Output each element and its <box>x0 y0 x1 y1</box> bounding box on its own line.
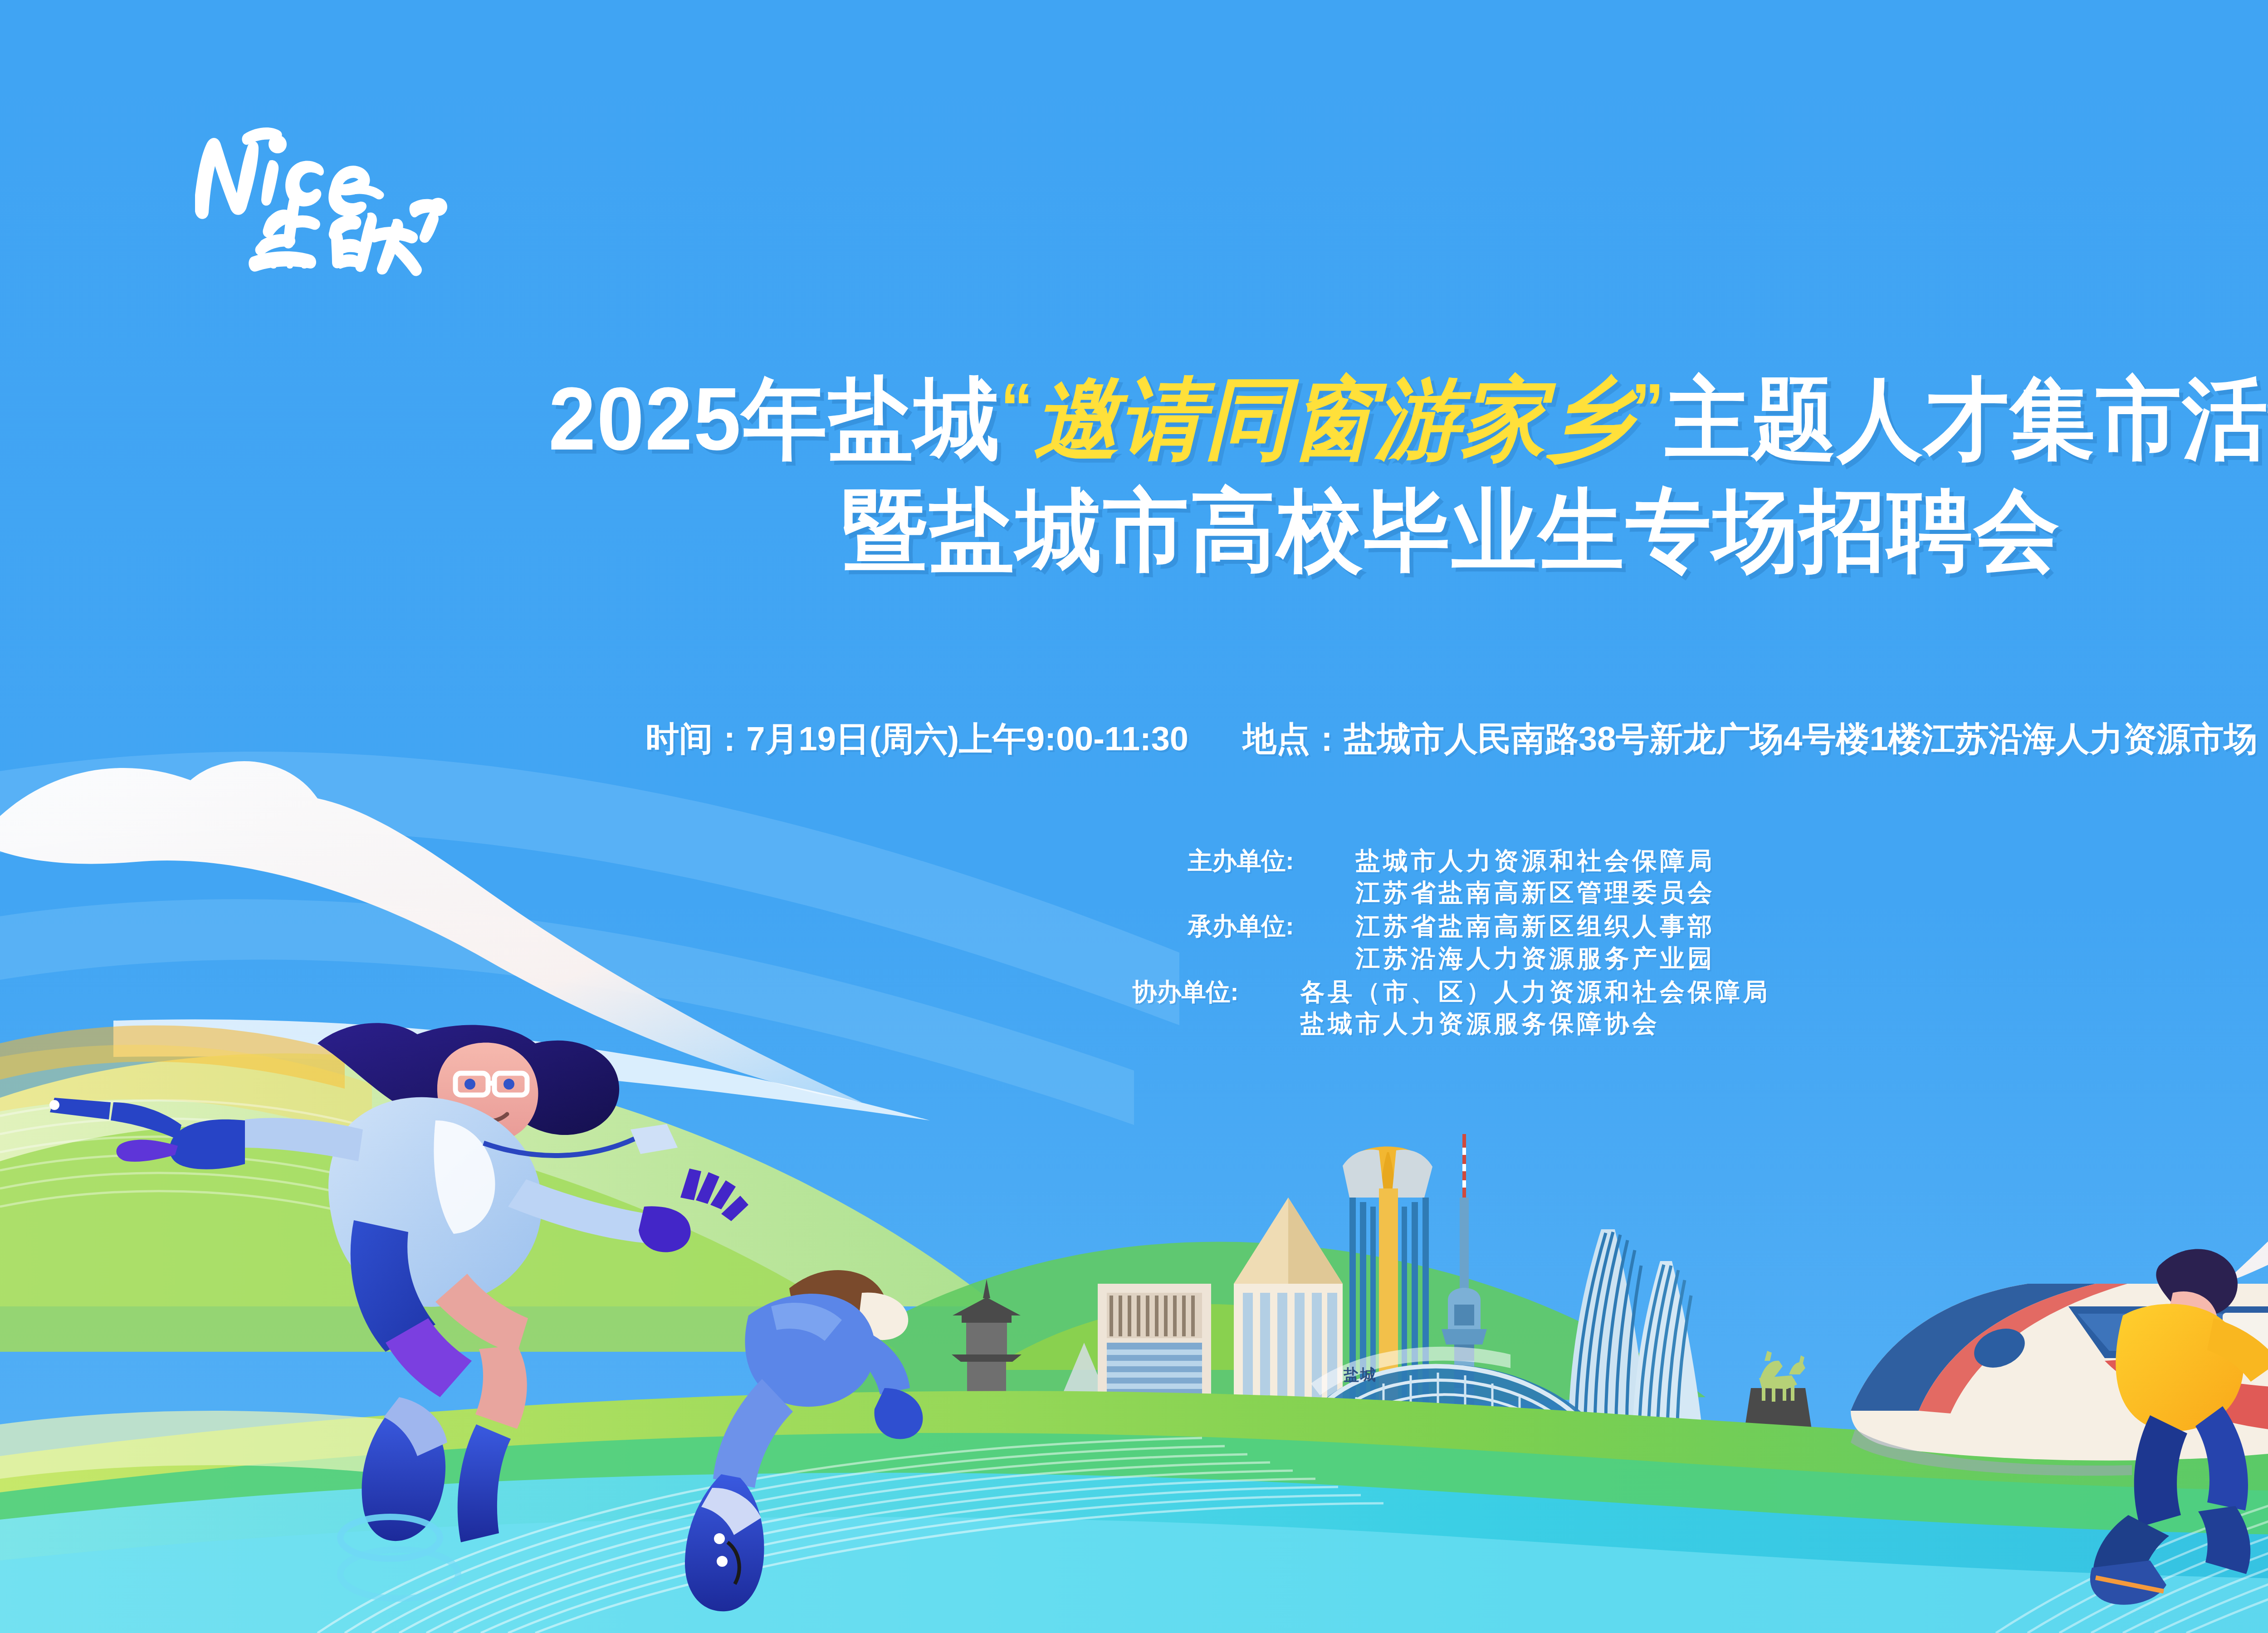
organizer-label: 协办单位: <box>1133 976 1300 1007</box>
time-value: 7月19日(周六)上午9:00-11:30 <box>746 720 1188 758</box>
organizer-value: 盐城市人力资源和社会保障局 <box>1356 845 1716 876</box>
time-label: 时间： <box>645 720 746 758</box>
organizer-block: 协办单位: 各县（市、区）人力资源和社会保障局 盐城市人力资源服务保障协会 <box>1133 976 1771 1039</box>
title-part-2: 主题人才集市活动 <box>1665 369 2268 469</box>
organizer-block: 承办单位: 江苏省盐南高新区组织人事部 江苏沿海人力资源服务产业园 <box>1188 910 1716 973</box>
quote-close: ” <box>1631 369 1665 445</box>
poster-title: 2025年盐城“邀请同窗游家乡”主题人才集市活动 暨盐城市高校毕业生专场招聘会 <box>0 372 2268 577</box>
organizer-label: 主办单位: <box>1188 845 1356 876</box>
organizer-value: 江苏省盐南高新区组织人事部 <box>1356 910 1716 942</box>
place-label: 地点： <box>1243 720 1344 758</box>
illustration-characters <box>0 0 2268 1633</box>
organizer-value: 盐城市人力资源服务保障协会 <box>1300 1007 1771 1039</box>
quote-open: “ <box>1000 369 1034 445</box>
place-value: 盐城市人民南路38号新龙广场4号楼1楼江苏沿海人力资源市场 <box>1344 720 2258 758</box>
organizer-block: 主办单位: 盐城市人力资源和社会保障局 江苏省盐南高新区管理委员会 <box>1188 845 1716 908</box>
organizer-value: 江苏沿海人力资源服务产业园 <box>1356 942 1716 974</box>
title-part-1: 2025年盐城 <box>548 369 1001 469</box>
organizer-value: 江苏省盐南高新区管理委员会 <box>1356 876 1716 908</box>
organizer-value: 各县（市、区）人力资源和社会保障局 <box>1300 976 1771 1007</box>
organizer-list: 主办单位: 盐城市人力资源和社会保障局 江苏省盐南高新区管理委员会 承办单位: … <box>0 845 2268 1041</box>
title-line-2: 暨盐城市高校毕业生专场招聘会 <box>58 484 2268 577</box>
girl-pointing-icon <box>49 1023 748 1599</box>
boy-running-icon <box>2090 1249 2268 1604</box>
title-line-1: 2025年盐城“邀请同窗游家乡”主题人才集市活动 <box>58 372 2268 466</box>
organizer-label: 承办单位: <box>1188 910 1356 942</box>
event-info-row: 时间：7月19日(周六)上午9:00-11:30地点：盐城市人民南路38号新龙广… <box>0 717 2268 762</box>
title-highlight: 邀请同窗游家乡 <box>1034 366 1631 470</box>
poster-canvas: 2025年盐城“邀请同窗游家乡”主题人才集市活动 暨盐城市高校毕业生专场招聘会 … <box>0 0 2268 1633</box>
runner-icon <box>685 1270 923 1611</box>
